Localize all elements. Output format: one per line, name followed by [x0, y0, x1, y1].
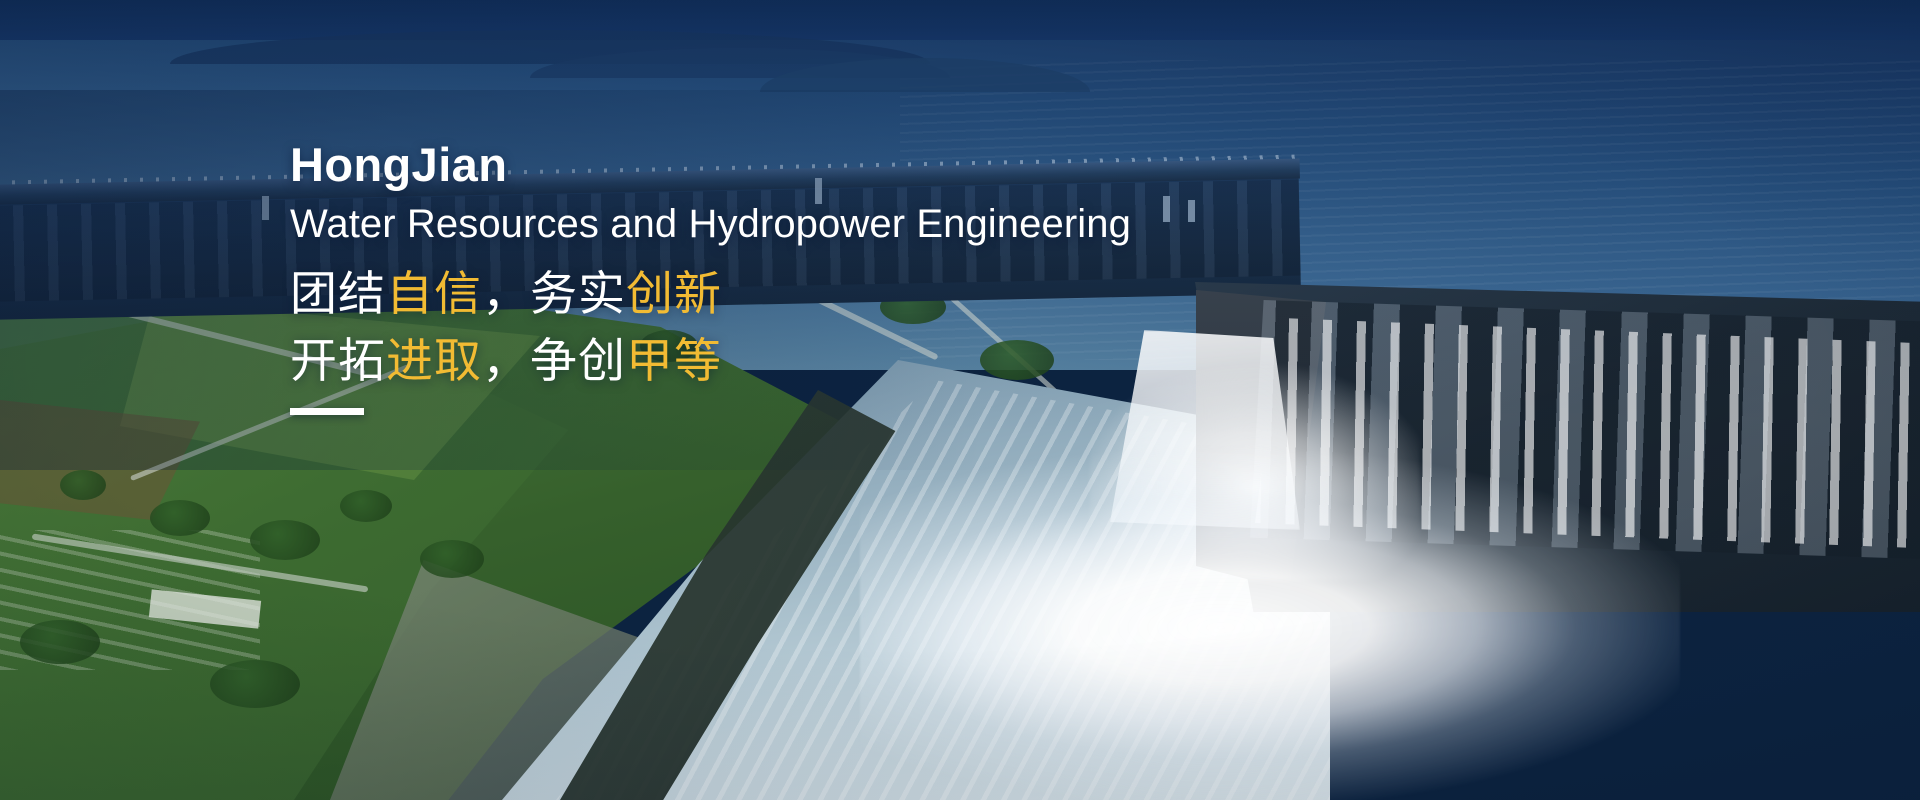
slogan-line-2: 开拓进取，争创甲等: [290, 327, 1390, 394]
slogan-line2-segment-white-1: 开拓: [290, 334, 386, 387]
slogan-line1-segment-gold-1: 自信: [386, 267, 482, 320]
brand-title: HongJian: [290, 140, 1390, 190]
slogan-line1-segment-gold-2: 创新: [626, 267, 722, 320]
slogan-line-1: 团结自信，务实创新: [290, 260, 1390, 327]
slogan-line1-segment-white-1: 团结: [290, 267, 386, 320]
accent-underline-rule: [290, 408, 364, 415]
hero-text-block: HongJian Water Resources and Hydropower …: [290, 140, 1390, 415]
slogan-line2-segment-gold-2: 甲等: [626, 334, 722, 387]
brand-subtitle: Water Resources and Hydropower Engineeri…: [290, 202, 1390, 246]
hero-banner: HongJian Water Resources and Hydropower …: [0, 0, 1920, 800]
slogan-line2-segment-gold-1: 进取: [386, 334, 482, 387]
slogan-line2-segment-white-2: ，争创: [482, 334, 626, 387]
slogan-block: 团结自信，务实创新 开拓进取，争创甲等: [290, 260, 1390, 394]
slogan-line1-segment-white-2: ，务实: [482, 267, 626, 320]
